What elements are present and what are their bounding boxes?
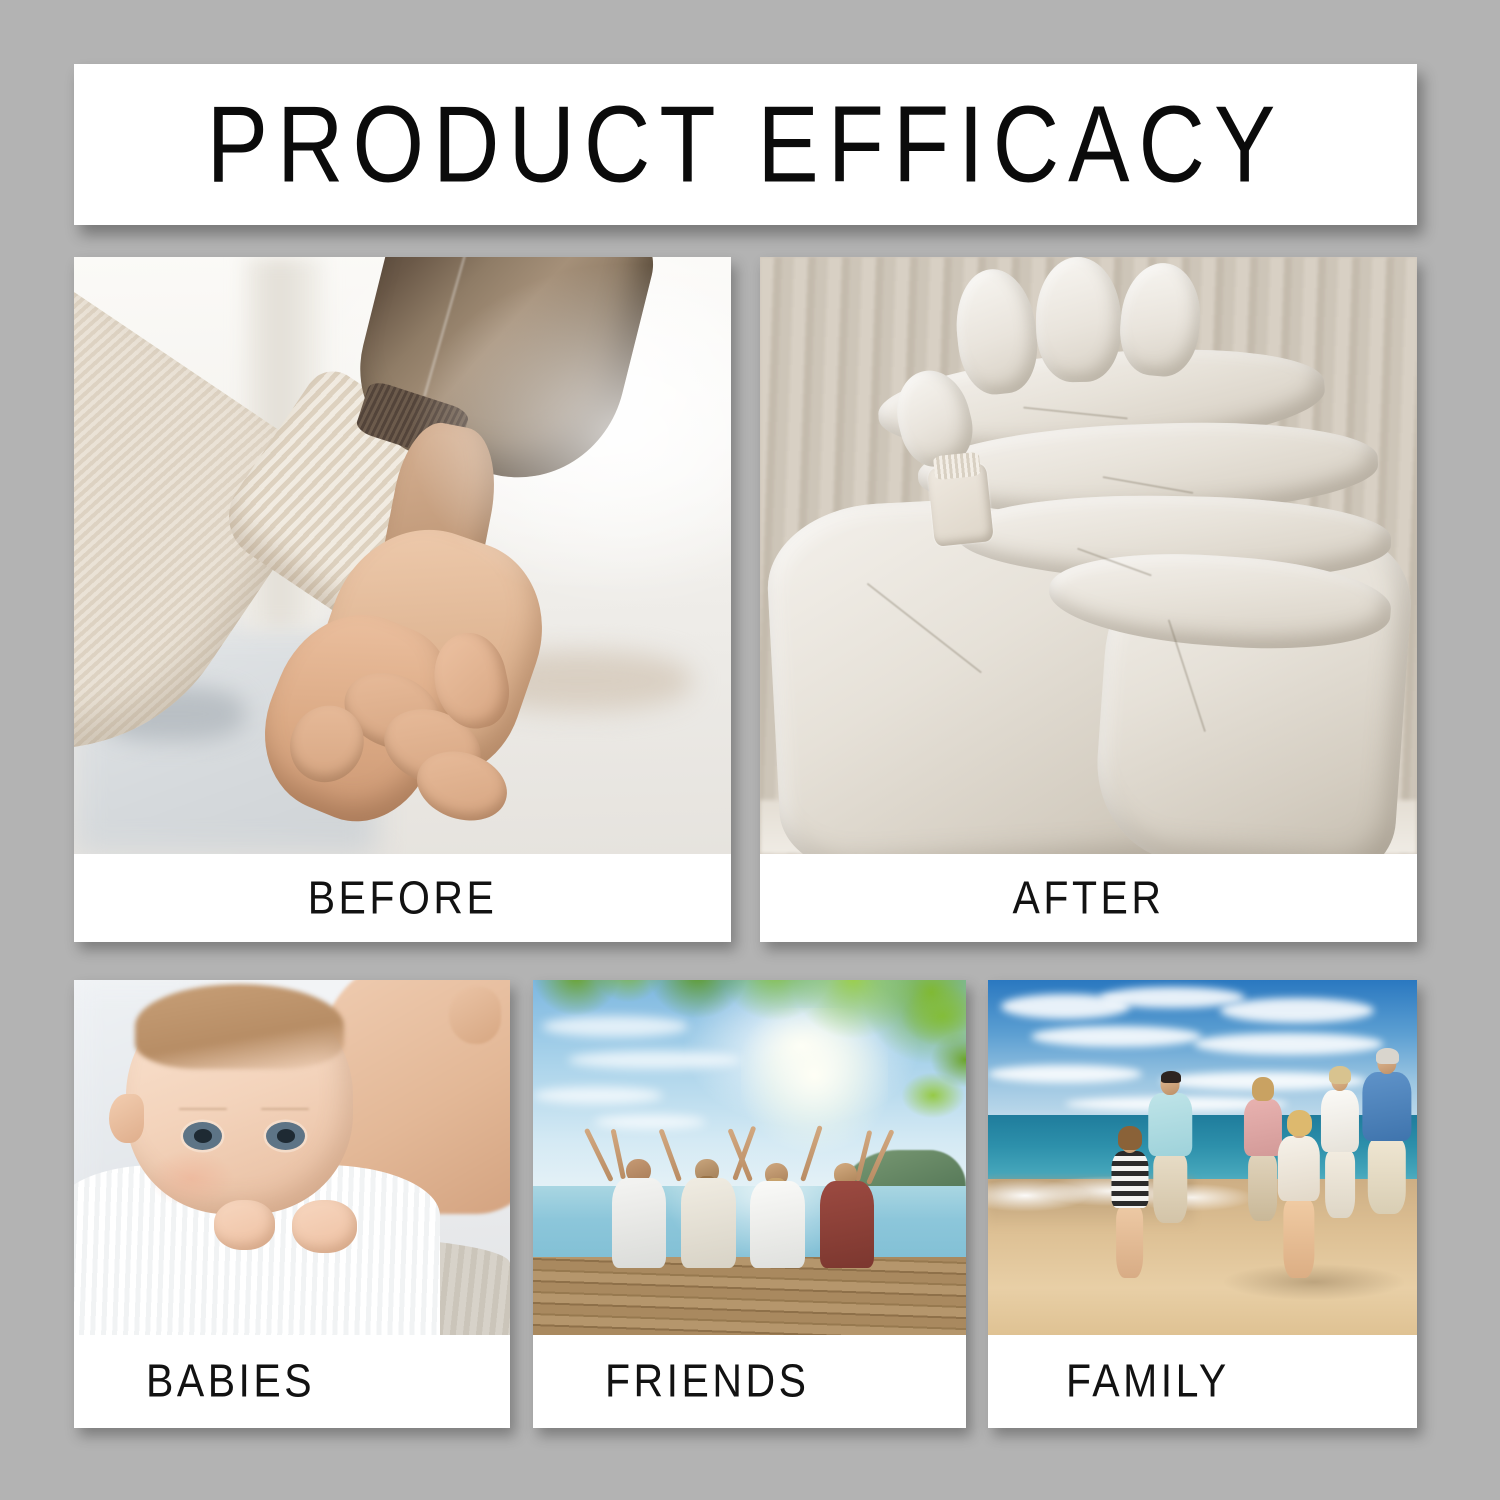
torso xyxy=(750,1181,805,1268)
friend-figure-two xyxy=(676,1143,741,1267)
torso xyxy=(1111,1151,1148,1208)
baby-cheek xyxy=(148,1150,235,1207)
babies-card: BABIES xyxy=(74,980,510,1428)
friends-caption: FRIENDS xyxy=(605,1355,809,1408)
family-card: FAMILY xyxy=(988,980,1417,1428)
before-caption: BEFORE xyxy=(308,872,498,925)
page-title: PRODUCT EFFICACY xyxy=(207,90,1285,199)
baby-fist-right xyxy=(292,1200,357,1253)
torso xyxy=(1362,1072,1411,1141)
friend-figure-three xyxy=(745,1147,810,1268)
hair xyxy=(1329,1066,1351,1084)
after-caption: AFTER xyxy=(1013,872,1165,925)
tree-foliage-right xyxy=(836,980,966,1179)
friends-on-dock-photo xyxy=(533,980,966,1335)
friend-figure-four xyxy=(814,1150,879,1267)
torso xyxy=(820,1181,875,1268)
baby-portrait-photo xyxy=(74,980,510,1335)
hair xyxy=(1287,1110,1313,1136)
cast-ring-stones xyxy=(933,452,981,481)
wooden-dock xyxy=(533,1257,966,1335)
babies-caption: BABIES xyxy=(146,1355,315,1408)
plaster-hand-casting-photo xyxy=(760,257,1417,854)
legs xyxy=(1368,1139,1406,1214)
hair xyxy=(1118,1126,1142,1150)
couple-holding-hands-photo xyxy=(74,257,731,854)
adult-ear xyxy=(449,987,501,1044)
cloud-four xyxy=(594,1115,707,1129)
baby-eyebrow-left xyxy=(179,1108,227,1110)
baby-fist-left xyxy=(214,1200,275,1250)
hair xyxy=(1252,1077,1274,1101)
legs xyxy=(1154,1154,1187,1223)
family-figure-child-one xyxy=(1104,1129,1155,1278)
before-card: BEFORE xyxy=(74,257,731,942)
baby-pupil-left xyxy=(194,1129,212,1142)
friend-figure-one xyxy=(607,1147,672,1268)
hair xyxy=(1161,1071,1181,1083)
legs xyxy=(1325,1151,1355,1218)
cloud-three xyxy=(1220,998,1374,1023)
infographic-page: PRODUCT EFFICACY BEFORE xyxy=(0,0,1500,1500)
family-on-beach-photo xyxy=(988,980,1417,1335)
title-banner: PRODUCT EFFICACY xyxy=(74,64,1417,225)
cloud-three xyxy=(533,1087,663,1105)
baby-eyebrow-right xyxy=(261,1108,309,1110)
torso xyxy=(681,1178,736,1267)
babies-caption-band: BABIES xyxy=(74,1335,510,1428)
baby-ear xyxy=(109,1094,144,1144)
before-caption-band: BEFORE xyxy=(74,854,731,942)
hair xyxy=(1376,1048,1399,1064)
torso xyxy=(612,1178,667,1267)
torso xyxy=(1278,1136,1320,1201)
baby-hair xyxy=(135,984,344,1069)
family-figure-grandfather xyxy=(1357,1051,1417,1214)
friends-caption-band: FRIENDS xyxy=(533,1335,966,1428)
legs xyxy=(1283,1200,1314,1278)
after-card: AFTER xyxy=(760,257,1417,942)
friends-card: FRIENDS xyxy=(533,980,966,1428)
cloud-six xyxy=(988,1065,1142,1083)
family-caption-band: FAMILY xyxy=(988,1335,1417,1428)
cloud-five xyxy=(1194,1033,1383,1054)
baby-pupil-right xyxy=(277,1129,295,1142)
after-caption-band: AFTER xyxy=(760,854,1417,942)
legs xyxy=(1116,1207,1144,1279)
family-caption: FAMILY xyxy=(1066,1355,1230,1408)
family-figure-child-two xyxy=(1271,1115,1327,1278)
